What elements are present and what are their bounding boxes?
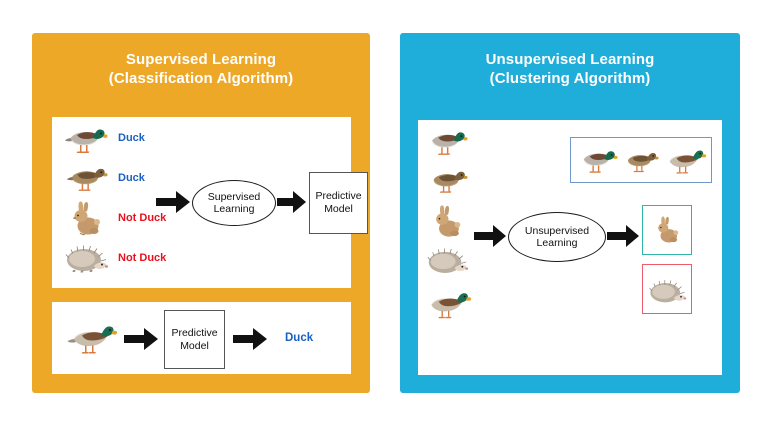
rabbit-cluster xyxy=(642,205,692,255)
supervised-training-card: Duck Duck xyxy=(52,117,351,288)
inference-prediction-label: Duck xyxy=(285,332,313,344)
training-label-4: Not Duck xyxy=(118,252,166,264)
unsupervised-panel-title: Unsupervised Learning (Clustering Algori… xyxy=(400,50,740,88)
mallard-duck-icon xyxy=(62,123,108,155)
duck-walking-icon xyxy=(66,319,118,355)
training-arrow-2 xyxy=(277,191,306,213)
inference-arrow-2 xyxy=(233,328,267,350)
unsupervised-node-line2: Learning xyxy=(525,237,589,250)
unsupervised-panel: Unsupervised Learning (Clustering Algori… xyxy=(400,33,740,393)
training-arrow-1 xyxy=(156,191,190,213)
training-label-3: Not Duck xyxy=(118,212,166,224)
unsupervised-title-line2: (Clustering Algorithm) xyxy=(400,69,740,88)
predictive-model-line2: Model xyxy=(315,203,361,216)
unsupervised-content-card: Unsupervised Learning xyxy=(418,120,722,375)
supervised-panel: Supervised Learning (Classification Algo… xyxy=(32,33,370,393)
cluster-rabbit-icon xyxy=(653,212,683,247)
input-female-duck-icon xyxy=(426,165,468,195)
input-hedgehog-icon xyxy=(424,244,470,277)
unsupervised-arrow-1 xyxy=(474,225,506,247)
supervised-title-line2: (Classification Algorithm) xyxy=(32,69,370,88)
cluster-duck-walking-icon xyxy=(663,144,707,175)
rabbit-icon xyxy=(68,200,106,236)
inference-model-line2: Model xyxy=(171,340,217,353)
duck-cluster xyxy=(570,137,712,183)
unsupervised-learning-node: Unsupervised Learning xyxy=(508,212,606,262)
supervised-inference-card: Predictive Model Duck xyxy=(52,302,351,374)
cluster-female-duck-icon xyxy=(621,147,659,174)
supervised-node-line1: Supervised xyxy=(208,191,261,204)
unsupervised-node-line1: Unsupervised xyxy=(525,225,589,238)
predictive-model-line1: Predictive xyxy=(315,190,361,203)
input-mallard-duck-icon xyxy=(424,126,468,157)
cluster-mallard-duck-icon xyxy=(576,145,618,175)
predictive-model-node: Predictive Model xyxy=(309,172,368,234)
supervised-node-line2: Learning xyxy=(208,203,261,216)
inference-arrow-1 xyxy=(124,328,158,350)
cluster-hedgehog-icon xyxy=(646,276,688,306)
supervised-title-line1: Supervised Learning xyxy=(32,50,370,69)
supervised-panel-title: Supervised Learning (Classification Algo… xyxy=(32,50,370,88)
inference-model-line1: Predictive xyxy=(171,327,217,340)
unsupervised-title-line1: Unsupervised Learning xyxy=(400,50,740,69)
training-label-2: Duck xyxy=(118,172,145,184)
supervised-learning-node: Supervised Learning xyxy=(192,180,276,226)
input-duck-walking-icon xyxy=(424,286,472,320)
training-label-1: Duck xyxy=(118,132,145,144)
input-rabbit-icon xyxy=(430,204,466,238)
unsupervised-arrow-2 xyxy=(607,225,639,247)
hedgehog-cluster xyxy=(642,264,692,314)
inference-predictive-model-node: Predictive Model xyxy=(164,310,225,369)
hedgehog-icon xyxy=(62,241,110,275)
female-duck-icon xyxy=(64,162,108,193)
